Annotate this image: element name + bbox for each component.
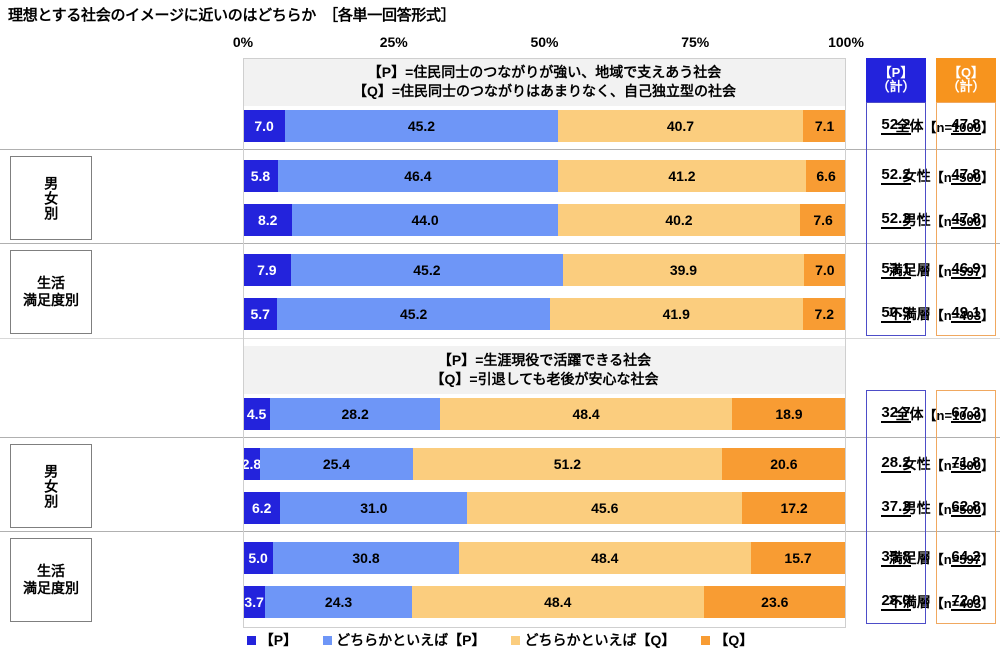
question-band-line-p: 【P】=生涯現役で活躍できる社会 [438, 351, 651, 370]
stacked-bar-row: 7.945.239.97.0 [243, 254, 846, 286]
section-divider [0, 531, 1000, 532]
bar-segment-2: 45.2 [291, 254, 564, 286]
page-title: 理想とする社会のイメージに近いのはどちらか ［各単一回答形式］ [8, 4, 455, 25]
stacked-bar-row: 6.231.045.617.2 [243, 492, 846, 524]
bar-segment-4: 6.6 [806, 160, 846, 192]
p-total-column-outline [866, 390, 926, 624]
bar-segment-3: 48.4 [412, 586, 704, 618]
bar-segment-1: 6.2 [243, 492, 280, 524]
bar-segment-4: 17.2 [742, 492, 846, 524]
chart-legend: 【P】どちらかといえば【P】どちらかといえば【Q】【Q】 [0, 628, 1000, 652]
bar-segment-3: 48.4 [459, 542, 751, 574]
bar-segment-4: 7.1 [803, 110, 846, 142]
bar-segment-2: 25.4 [260, 448, 413, 480]
bar-segment-4: 18.9 [732, 398, 846, 430]
bar-segment-4: 7.6 [800, 204, 846, 236]
legend-item-2[interactable]: どちらかといえば【P】 [323, 630, 485, 650]
stacked-bar-row: 5.846.441.26.6 [243, 160, 846, 192]
bar-segment-4: 7.2 [803, 298, 846, 330]
bar-segment-2: 46.4 [278, 160, 558, 192]
question-band-1: 【P】=住民同士のつながりが強い、地域で支えあう社会【Q】=住民同士のつながりは… [243, 58, 846, 106]
group-box-gender: 男女別 [10, 156, 92, 240]
bar-segment-3: 41.2 [558, 160, 806, 192]
bar-segment-2: 28.2 [270, 398, 440, 430]
x-axis: 0%25%50%75%100% [0, 34, 1000, 52]
question-band-line-q: 【Q】=引退しても老後が安心な社会 [431, 370, 659, 389]
bar-segment-1: 5.0 [243, 542, 273, 574]
bar-segment-3: 40.7 [558, 110, 803, 142]
stacked-bar-row: 3.724.348.423.6 [243, 586, 846, 618]
group-box-satisfaction: 生活満足度別 [10, 538, 92, 622]
stacked-bar-row: 4.528.248.418.9 [243, 398, 846, 430]
legend-swatch-icon [247, 636, 256, 645]
group-box-gender: 男女別 [10, 444, 92, 528]
bar-segment-1: 8.2 [243, 204, 292, 236]
axis-tick-0: 0% [233, 34, 253, 50]
stacked-bar-row: 5.030.848.415.7 [243, 542, 846, 574]
bar-segment-1: 4.5 [243, 398, 270, 430]
q-total-column-outline [936, 102, 996, 336]
axis-tick-100: 100% [828, 34, 864, 50]
p-total-column-outline [866, 102, 926, 336]
bar-segment-2: 30.8 [273, 542, 459, 574]
section-divider [0, 437, 1000, 438]
bar-segment-3: 39.9 [563, 254, 804, 286]
legend-swatch-icon [323, 636, 332, 645]
legend-swatch-icon [701, 636, 710, 645]
legend-label: 【P】 [260, 630, 297, 650]
stacked-bar-row: 8.244.040.27.6 [243, 204, 846, 236]
bar-segment-4: 23.6 [704, 586, 846, 618]
bar-segment-1: 2.8 [243, 448, 260, 480]
legend-label: どちらかといえば【Q】 [524, 630, 675, 650]
axis-tick-25: 25% [380, 34, 408, 50]
axis-tick-50: 50% [530, 34, 558, 50]
group-box-satisfaction: 生活満足度別 [10, 250, 92, 334]
legend-swatch-icon [511, 636, 520, 645]
stacked-bar-row: 5.745.241.97.2 [243, 298, 846, 330]
chart-area: 【P】=住民同士のつながりが強い、地域で支えあう社会【Q】=住民同士のつながりは… [0, 58, 1000, 618]
question-band-2: 【P】=生涯現役で活躍できる社会【Q】=引退しても老後が安心な社会 [243, 346, 846, 394]
bar-segment-4: 20.6 [722, 448, 846, 480]
bar-segment-1: 5.7 [243, 298, 277, 330]
bar-segment-2: 24.3 [265, 586, 412, 618]
bar-segment-2: 45.2 [277, 298, 550, 330]
legend-item-4[interactable]: 【Q】 [701, 630, 753, 650]
bar-segment-3: 51.2 [413, 448, 722, 480]
question-band-line-q: 【Q】=住民同士のつながりはあまりなく、自己独立型の社会 [353, 82, 736, 101]
bar-segment-1: 5.8 [243, 160, 278, 192]
bar-segment-3: 48.4 [440, 398, 732, 430]
bar-segment-1: 7.0 [243, 110, 285, 142]
block-divider [0, 338, 1000, 339]
section-divider [0, 149, 1000, 150]
bar-segment-3: 40.2 [558, 204, 800, 236]
bar-segment-4: 7.0 [804, 254, 846, 286]
section-divider [0, 243, 1000, 244]
bar-segment-1: 7.9 [243, 254, 291, 286]
legend-label: 【Q】 [714, 630, 753, 650]
stacked-bar-row: 7.045.240.77.1 [243, 110, 846, 142]
legend-item-3[interactable]: どちらかといえば【Q】 [511, 630, 675, 650]
bar-segment-2: 44.0 [292, 204, 557, 236]
bar-segment-3: 45.6 [467, 492, 742, 524]
axis-tick-75: 75% [681, 34, 709, 50]
question-band-line-p: 【P】=住民同士のつながりが強い、地域で支えあう社会 [368, 63, 722, 82]
bar-segment-1: 3.7 [243, 586, 265, 618]
bar-segment-4: 15.7 [751, 542, 846, 574]
bar-segment-2: 45.2 [285, 110, 558, 142]
stacked-bar-row: 2.825.451.220.6 [243, 448, 846, 480]
legend-item-1[interactable]: 【P】 [247, 630, 297, 650]
legend-label: どちらかといえば【P】 [336, 630, 485, 650]
bar-segment-2: 31.0 [280, 492, 467, 524]
q-total-column-outline [936, 390, 996, 624]
bar-segment-3: 41.9 [550, 298, 803, 330]
